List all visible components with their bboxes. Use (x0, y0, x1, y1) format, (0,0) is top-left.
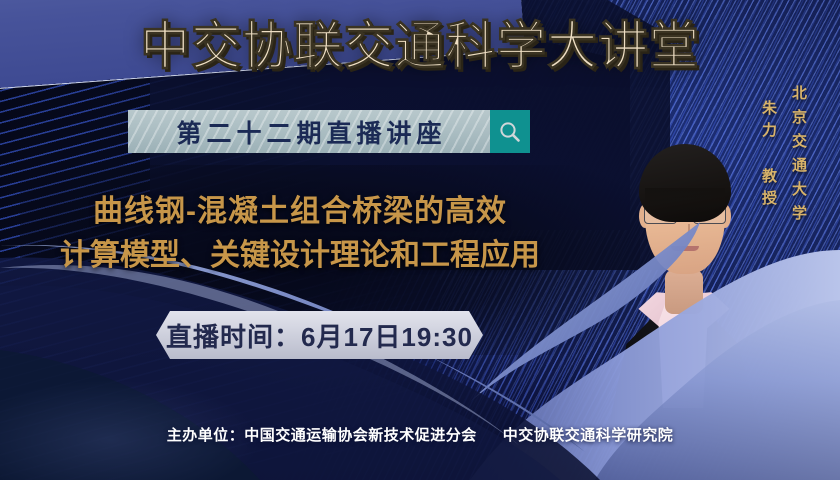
portrait-neck (665, 270, 703, 314)
footer-org-2: 中交协联交通科学研究院 (503, 427, 674, 444)
poster-brand-title: 中交协联交通科学大讲堂 (17, 16, 823, 78)
speaker-name-vertical: 朱力 教授 (758, 100, 779, 212)
footer-org-1: 中国交通运输协会新技术促进分会 (244, 427, 477, 444)
search-button[interactable] (490, 110, 530, 153)
speaker-portrait (595, 120, 770, 420)
portrait-hair (639, 144, 731, 222)
search-icon (498, 120, 522, 144)
broadcast-time-text: 直播时间：6月17日19:30 (166, 317, 473, 354)
organizers-footer: 主办单位：中国交通运输协会新技术促进分会中交协联交通科学研究院 (0, 424, 840, 445)
episode-banner[interactable]: 第二十二期直播讲座 (128, 110, 530, 153)
lecture-title-line-1: 曲线钢-混凝土组合桥梁的高效 (0, 190, 600, 234)
episode-banner-body: 第二十二期直播讲座 (128, 110, 490, 153)
portrait-mouth (671, 246, 699, 251)
livestream-poster: 中交协联交通科学大讲堂 第二十二期直播讲座 曲线钢-混凝土组合桥梁的高效 计算模… (0, 0, 840, 480)
episode-label: 第二十二期直播讲座 (171, 114, 446, 150)
footer-prefix: 主办单位： (167, 427, 245, 444)
speaker-affiliation-vertical: 北京交通大学 (788, 85, 809, 229)
lecture-title-line-2: 计算模型、关键设计理论和工程应用 (0, 234, 600, 278)
portrait-nose (681, 224, 690, 236)
lecture-title: 曲线钢-混凝土组合桥梁的高效 计算模型、关键设计理论和工程应用 (0, 190, 600, 278)
broadcast-time-badge: 直播时间：6月17日19:30 (156, 311, 483, 359)
